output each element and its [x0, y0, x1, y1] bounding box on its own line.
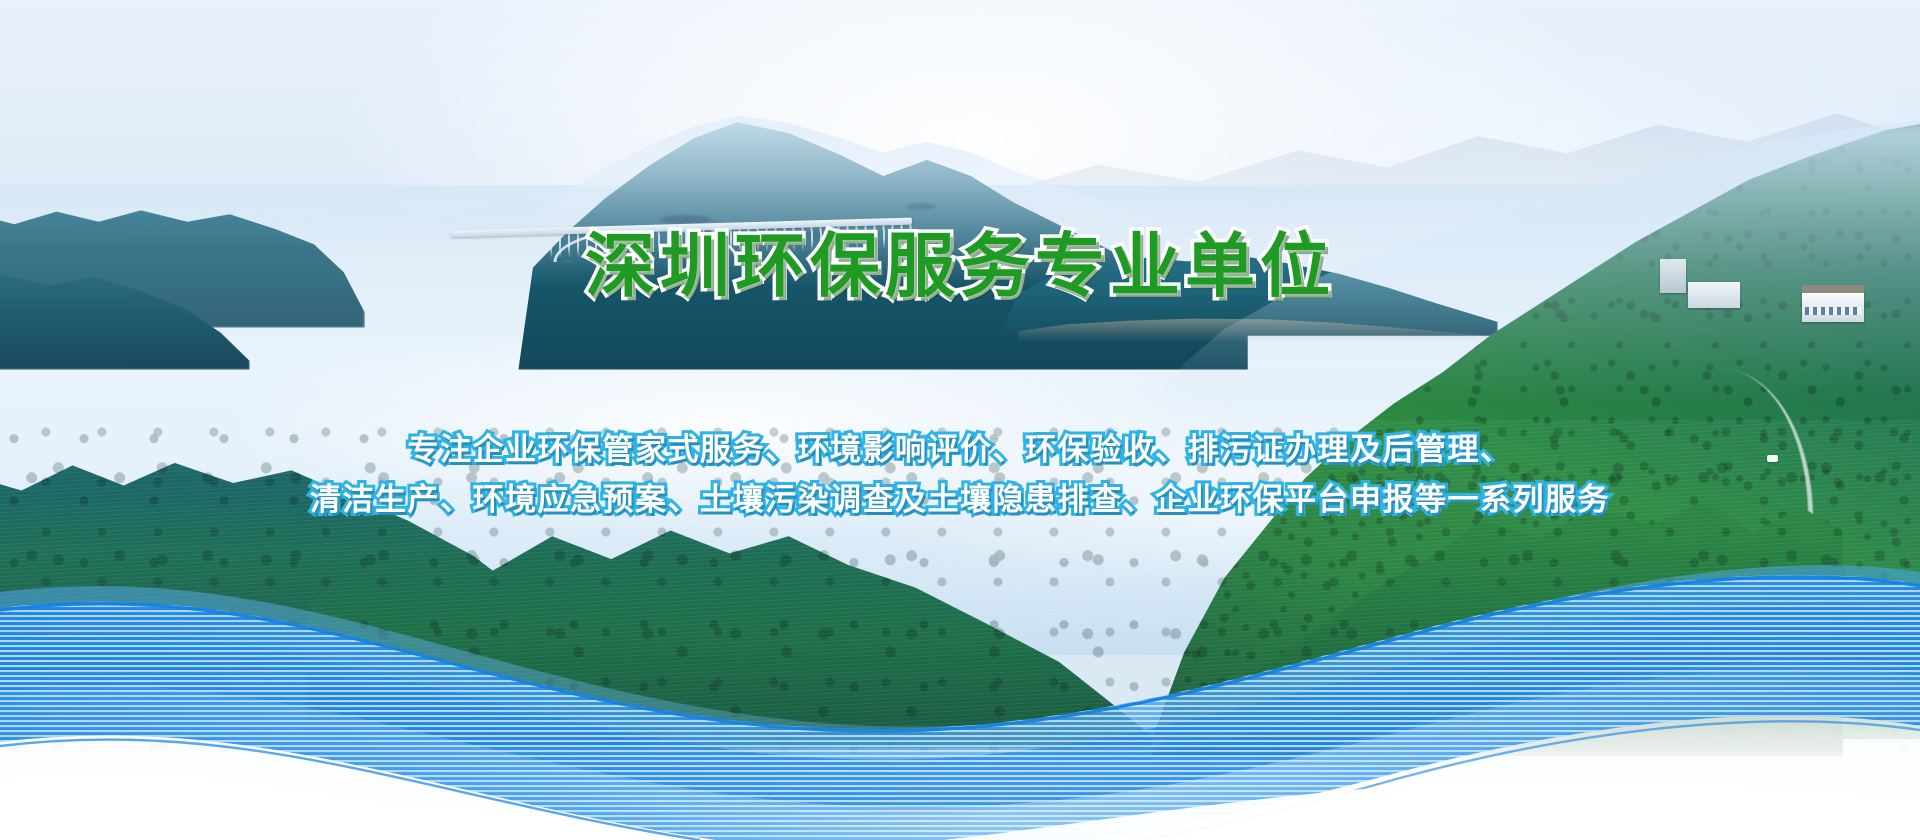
subtitle-line-2: 清洁生产、环境应急预案、土壤污染调查及土壤隐患排查、企业环保平台申报等一系列服务 [0, 484, 1920, 517]
building-windows [1805, 307, 1861, 315]
hero-banner: 深圳环保服务专业单位 专注企业环保管家式服务、环境影响评价、环保验收、排污证办理… [0, 0, 1920, 840]
page-title: 深圳环保服务专业单位 [0, 229, 1920, 305]
wave-overlay-graphic [0, 480, 1920, 840]
subtitle-line-1: 专注企业环保管家式服务、环境影响评价、环保验收、排污证办理及后管理、 [0, 434, 1920, 467]
